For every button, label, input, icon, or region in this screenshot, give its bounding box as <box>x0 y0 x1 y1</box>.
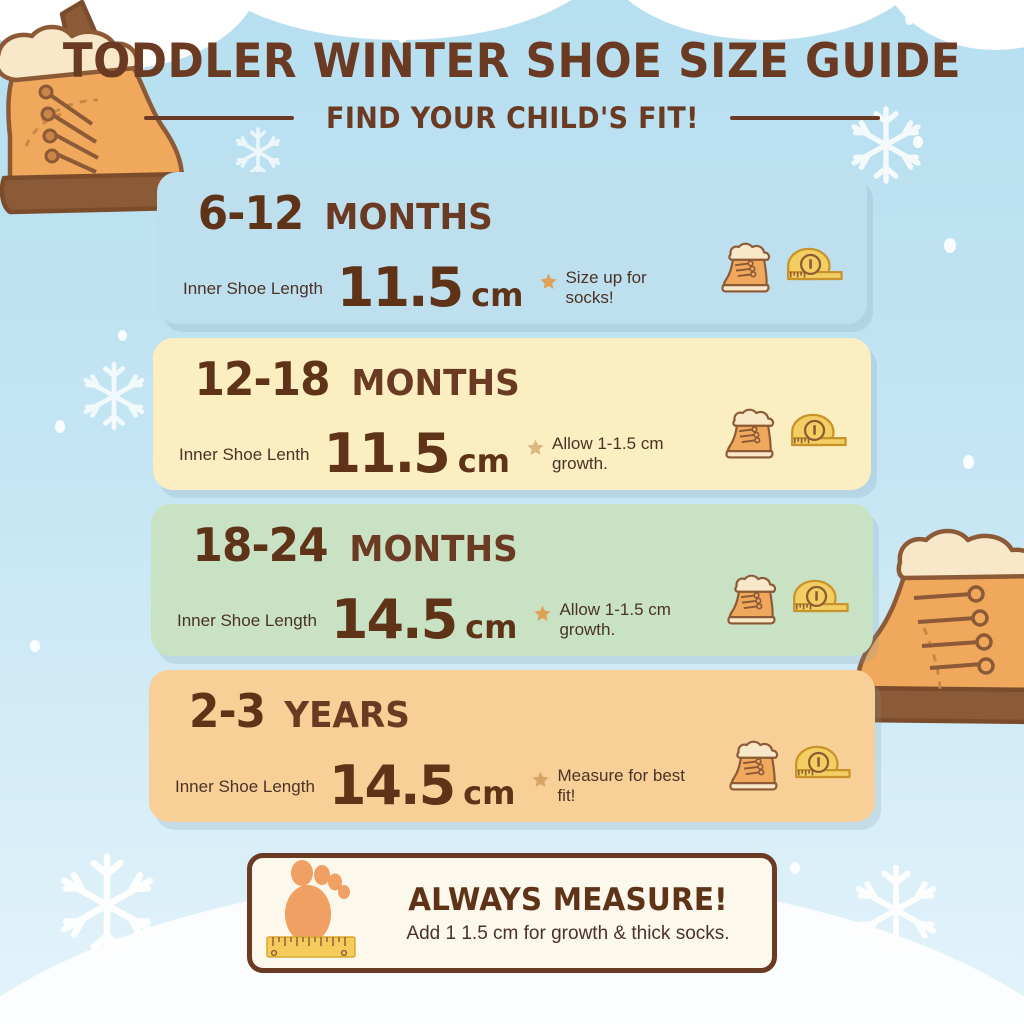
measure-unit: cm <box>463 774 515 812</box>
age-range: 6-12 <box>198 186 304 240</box>
snow-dot <box>497 12 510 28</box>
size-card-list: 6-12 MONTHS Inner Shoe Length 11.5 cm Si… <box>0 172 1024 836</box>
size-card-18-24-months[interactable]: 18-24 MONTHS Inner Shoe Length 14.5 cm A… <box>151 504 873 656</box>
divider-right <box>730 116 880 120</box>
age-range: 12-18 <box>195 352 330 406</box>
card-icon-group <box>723 570 851 647</box>
card-icon-group <box>721 404 849 481</box>
header: TODDLER WINTER SHOE SIZE GUIDE FIND YOUR… <box>0 34 1024 135</box>
measure-label: Inner Shoe Length <box>175 777 315 813</box>
measurement-row: Inner Shoe Length 14.5 cm Allow 1-1.5 cm… <box>177 570 851 647</box>
age-heading: 18-24 MONTHS <box>177 518 851 572</box>
banner-subtitle: Add 1 1.5 cm for growth & thick socks. <box>380 923 756 945</box>
measurement-row: Inner Shoe Length 14.5 cm Measure for be… <box>175 736 853 813</box>
banner-text-group: ALWAYS MEASURE! Add 1 1.5 cm for growth … <box>376 882 756 945</box>
snow-dot <box>790 862 800 874</box>
measure-unit: cm <box>458 442 510 480</box>
banner-artwork <box>266 861 376 965</box>
banner-title: ALWAYS MEASURE! <box>389 882 746 918</box>
measure-unit: cm <box>465 608 517 646</box>
measure-value-group: 11.5 cm <box>323 427 510 481</box>
age-range: 18-24 <box>193 518 328 572</box>
age-heading: 6-12 MONTHS <box>183 186 845 240</box>
infographic-canvas: TODDLER WINTER SHOE SIZE GUIDE FIND YOUR… <box>0 0 1024 1024</box>
page-title: TODDLER WINTER SHOE SIZE GUIDE <box>36 34 988 89</box>
age-unit: YEARS <box>284 695 410 736</box>
snowflake-icon <box>848 862 944 958</box>
tip-text: Allow 1-1.5 cm growth. <box>552 434 682 475</box>
measuring-tape-icon <box>791 741 853 794</box>
winter-boot-icon <box>721 404 779 467</box>
tip-group: Allow 1-1.5 cm growth. <box>533 600 689 647</box>
age-heading: 2-3 YEARS <box>175 684 853 738</box>
winter-boot-icon <box>725 736 783 799</box>
measuring-tape-icon <box>789 575 851 628</box>
star-icon <box>531 770 550 794</box>
card-icon-group <box>725 736 853 813</box>
measure-value: 14.5 <box>329 759 454 813</box>
measure-value: 11.5 <box>337 261 462 315</box>
tip-group: Size up for socks! <box>539 268 695 315</box>
size-card-2-3-years[interactable]: 2-3 YEARS Inner Shoe Length 14.5 cm Meas… <box>149 670 875 822</box>
measurement-row: Inner Shoe Lenth 11.5 cm Allow 1-1.5 cm … <box>179 404 849 481</box>
measure-value-group: 11.5 cm <box>337 261 524 315</box>
size-card-6-12-months[interactable]: 6-12 MONTHS Inner Shoe Length 11.5 cm Si… <box>157 172 867 324</box>
measure-value: 11.5 <box>323 427 448 481</box>
measure-label: Inner Shoe Length <box>177 611 317 647</box>
star-icon <box>539 272 558 296</box>
tip-group: Allow 1-1.5 cm growth. <box>526 434 682 481</box>
snow-dot <box>718 8 730 23</box>
measure-label: Inner Shoe Lenth <box>179 445 309 481</box>
star-icon <box>526 438 545 462</box>
ruler-icon <box>266 935 356 964</box>
winter-boot-icon <box>717 238 775 301</box>
measure-value-group: 14.5 cm <box>329 759 516 813</box>
snow-dot <box>905 14 914 25</box>
measuring-tape-icon <box>783 243 845 296</box>
measure-value: 14.5 <box>331 593 456 647</box>
winter-boot-icon <box>723 570 781 633</box>
snowflake-icon <box>52 850 162 960</box>
divider-left <box>144 116 294 120</box>
tip-text: Allow 1-1.5 cm growth. <box>559 600 689 641</box>
measure-value-group: 14.5 cm <box>331 593 518 647</box>
measure-unit: cm <box>471 276 523 314</box>
measure-label: Inner Shoe Length <box>183 279 323 315</box>
card-icon-group <box>717 238 845 315</box>
star-icon <box>533 604 552 628</box>
age-unit: MONTHS <box>325 197 493 238</box>
age-unit: MONTHS <box>350 529 518 570</box>
tip-group: Measure for best fit! <box>531 766 687 813</box>
page-subtitle: FIND YOUR CHILD'S FIT! <box>326 101 699 135</box>
tip-text: Measure for best fit! <box>557 766 687 807</box>
measuring-tape-icon <box>787 409 849 462</box>
size-card-12-18-months[interactable]: 12-18 MONTHS Inner Shoe Lenth 11.5 cm Al… <box>153 338 871 490</box>
age-unit: MONTHS <box>352 363 520 404</box>
subtitle-row: FIND YOUR CHILD'S FIT! <box>0 101 1024 135</box>
age-heading: 12-18 MONTHS <box>179 352 849 406</box>
always-measure-banner[interactable]: ALWAYS MEASURE! Add 1 1.5 cm for growth … <box>247 853 777 973</box>
measurement-row: Inner Shoe Length 11.5 cm Size up for so… <box>183 238 845 315</box>
tip-text: Size up for socks! <box>565 268 695 309</box>
age-range: 2-3 <box>189 684 265 738</box>
